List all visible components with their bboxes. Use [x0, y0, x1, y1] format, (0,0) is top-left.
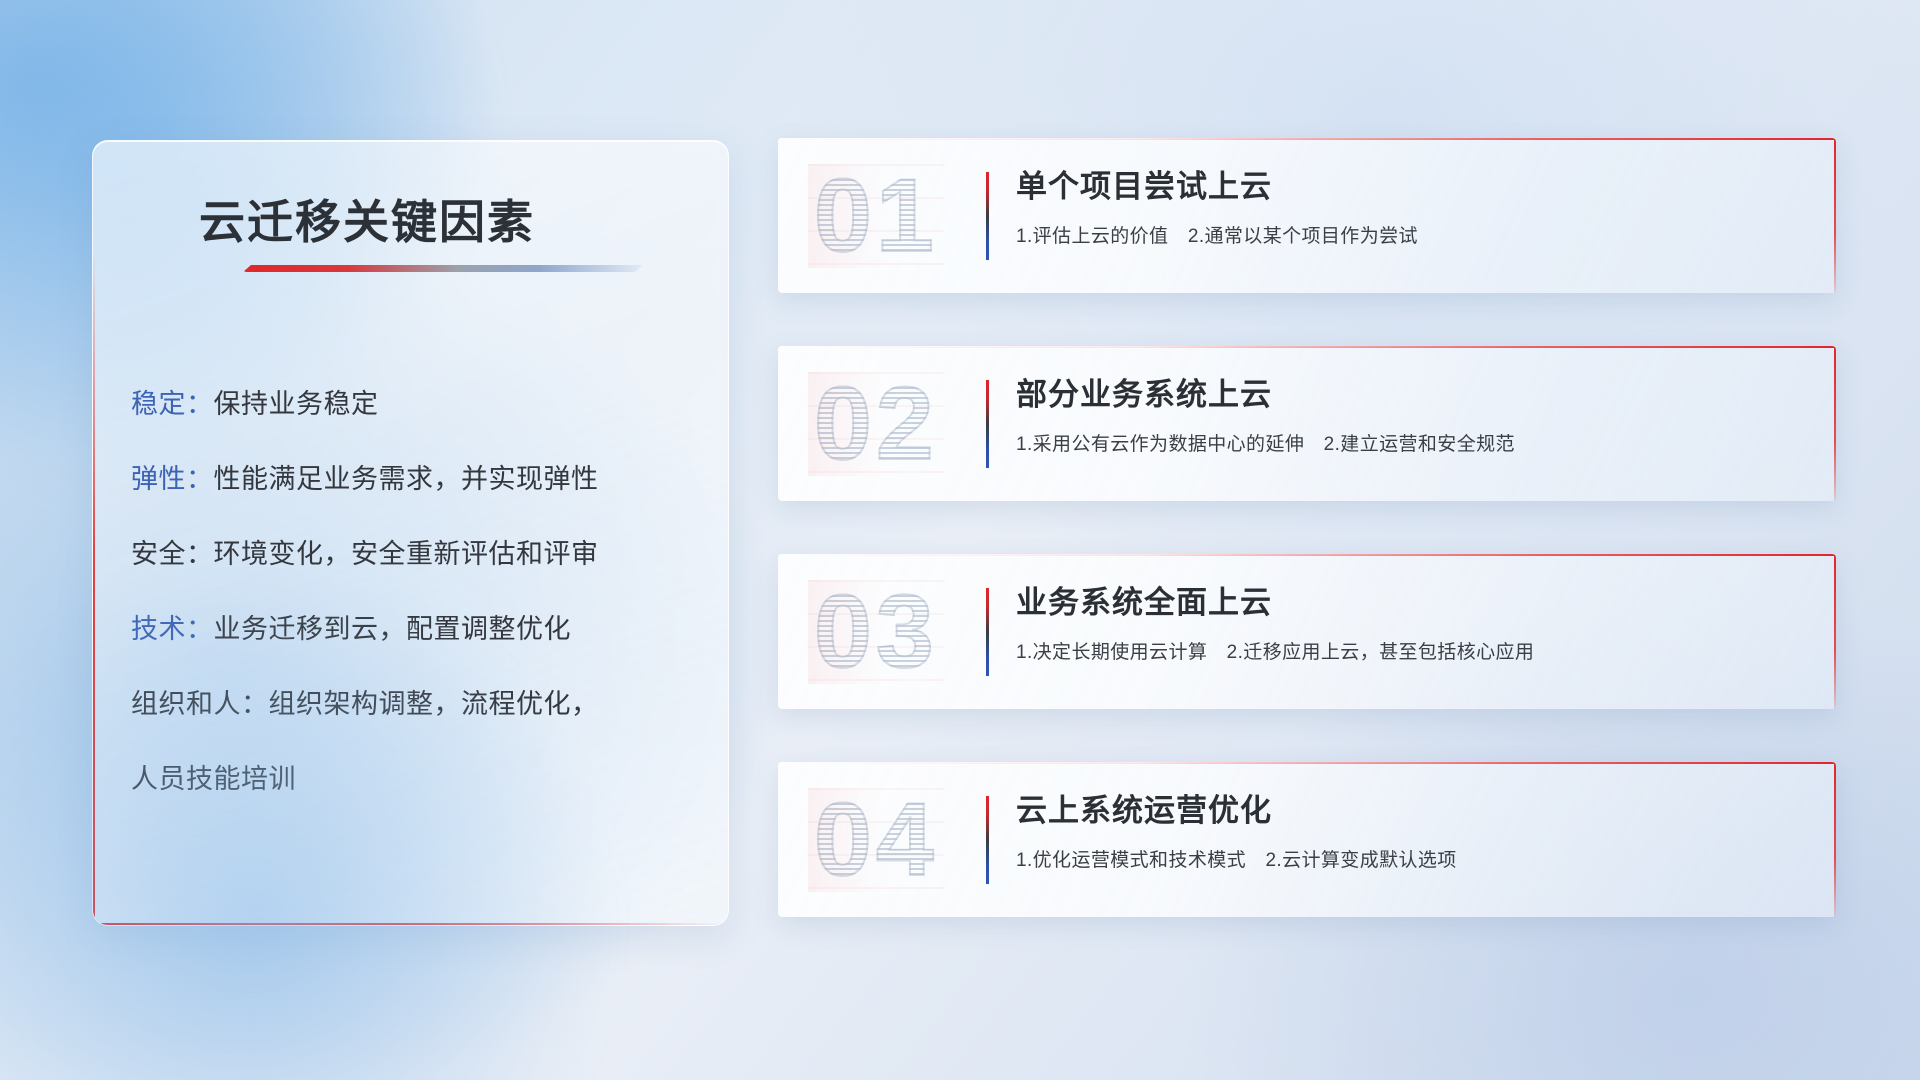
step-description: 1.评估上云的价值 2.通常以某个项目作为尝试 — [1016, 221, 1806, 248]
step-body: 业务系统全面上云 1.决定长期使用云计算 2.迁移应用上云，甚至包括核心应用 — [1016, 584, 1806, 664]
step-divider-bar — [986, 796, 989, 884]
step-card-04[interactable]: 04 云上系统运营优化 1.优化运营模式和技术模式 2.云计算变成默认选项 — [778, 762, 1836, 917]
factor-text: 性能满足业务需求，并实现弹性 — [214, 464, 599, 494]
step-title: 部分业务系统上云 — [1016, 376, 1806, 415]
step-description: 1.采用公有云作为数据中心的延伸 2.建立运营和安全规范 — [1016, 429, 1806, 456]
list-item-continuation: 人员技能培训 — [131, 742, 702, 817]
key-factors-panel: 云迁移关键因素 稳定：保持业务稳定 弹性：性能满足业务需求，并实现弹性 安全：环… — [92, 140, 729, 926]
card-right-accent-line — [1834, 346, 1836, 501]
migration-steps-list: 01 单个项目尝试上云 1.评估上云的价值 2.通常以某个项目作为尝试 02 部… — [778, 138, 1836, 970]
factor-label: 弹性： — [131, 464, 214, 494]
card-right-accent-line — [1834, 762, 1836, 917]
step-body: 部分业务系统上云 1.采用公有云作为数据中心的延伸 2.建立运营和安全规范 — [1016, 376, 1806, 456]
factor-text: 业务迁移到云，配置调整优化 — [214, 614, 572, 644]
step-number-watermark: 04 — [814, 788, 938, 892]
step-card-02[interactable]: 02 部分业务系统上云 1.采用公有云作为数据中心的延伸 2.建立运营和安全规范 — [778, 346, 1836, 501]
list-item: 安全：环境变化，安全重新评估和评审 — [131, 517, 702, 592]
step-card-01[interactable]: 01 单个项目尝试上云 1.评估上云的价值 2.通常以某个项目作为尝试 — [778, 138, 1836, 293]
key-factors-list: 稳定：保持业务稳定 弹性：性能满足业务需求，并实现弹性 安全：环境变化，安全重新… — [131, 367, 702, 817]
panel-left-accent-line — [93, 141, 95, 925]
card-top-accent-line — [778, 138, 1836, 140]
step-number-watermark: 01 — [814, 164, 938, 268]
step-divider-bar — [986, 588, 989, 676]
card-right-accent-line — [1834, 138, 1836, 293]
factor-text: 保持业务稳定 — [214, 389, 379, 419]
step-divider-bar — [986, 172, 989, 260]
page-title: 云迁移关键因素 — [199, 186, 535, 252]
factor-label: 稳定： — [131, 389, 214, 419]
card-top-accent-line — [778, 554, 1836, 556]
step-number-watermark: 03 — [814, 580, 938, 684]
step-title: 单个项目尝试上云 — [1016, 168, 1806, 207]
card-right-accent-line — [1834, 554, 1836, 709]
slide-canvas: 云迁移关键因素 稳定：保持业务稳定 弹性：性能满足业务需求，并实现弹性 安全：环… — [0, 0, 1920, 1080]
factor-text: 人员技能培训 — [131, 764, 296, 794]
step-title: 云上系统运营优化 — [1016, 792, 1806, 831]
step-card-03[interactable]: 03 业务系统全面上云 1.决定长期使用云计算 2.迁移应用上云，甚至包括核心应… — [778, 554, 1836, 709]
factor-label: 组织和人： — [131, 689, 269, 719]
step-title: 业务系统全面上云 — [1016, 584, 1806, 623]
list-item: 技术：业务迁移到云，配置调整优化 — [131, 592, 702, 667]
step-body: 云上系统运营优化 1.优化运营模式和技术模式 2.云计算变成默认选项 — [1016, 792, 1806, 872]
card-top-accent-line — [778, 762, 1836, 764]
step-description: 1.决定长期使用云计算 2.迁移应用上云，甚至包括核心应用 — [1016, 637, 1806, 664]
card-top-accent-line — [778, 346, 1836, 348]
list-item: 弹性：性能满足业务需求，并实现弹性 — [131, 442, 702, 517]
factor-text: 环境变化，安全重新评估和评审 — [214, 539, 599, 569]
list-item: 稳定：保持业务稳定 — [131, 367, 702, 442]
step-divider-bar — [986, 380, 989, 468]
factor-label: 安全： — [131, 539, 214, 569]
title-underline-gradient — [243, 265, 643, 272]
step-number-watermark: 02 — [814, 372, 938, 476]
factor-label: 技术： — [131, 614, 214, 644]
factor-text: 组织架构调整，流程优化， — [269, 689, 599, 719]
panel-bottom-accent-line — [93, 923, 728, 925]
step-body: 单个项目尝试上云 1.评估上云的价值 2.通常以某个项目作为尝试 — [1016, 168, 1806, 248]
step-description: 1.优化运营模式和技术模式 2.云计算变成默认选项 — [1016, 845, 1806, 872]
list-item: 组织和人：组织架构调整，流程优化， — [131, 667, 702, 742]
